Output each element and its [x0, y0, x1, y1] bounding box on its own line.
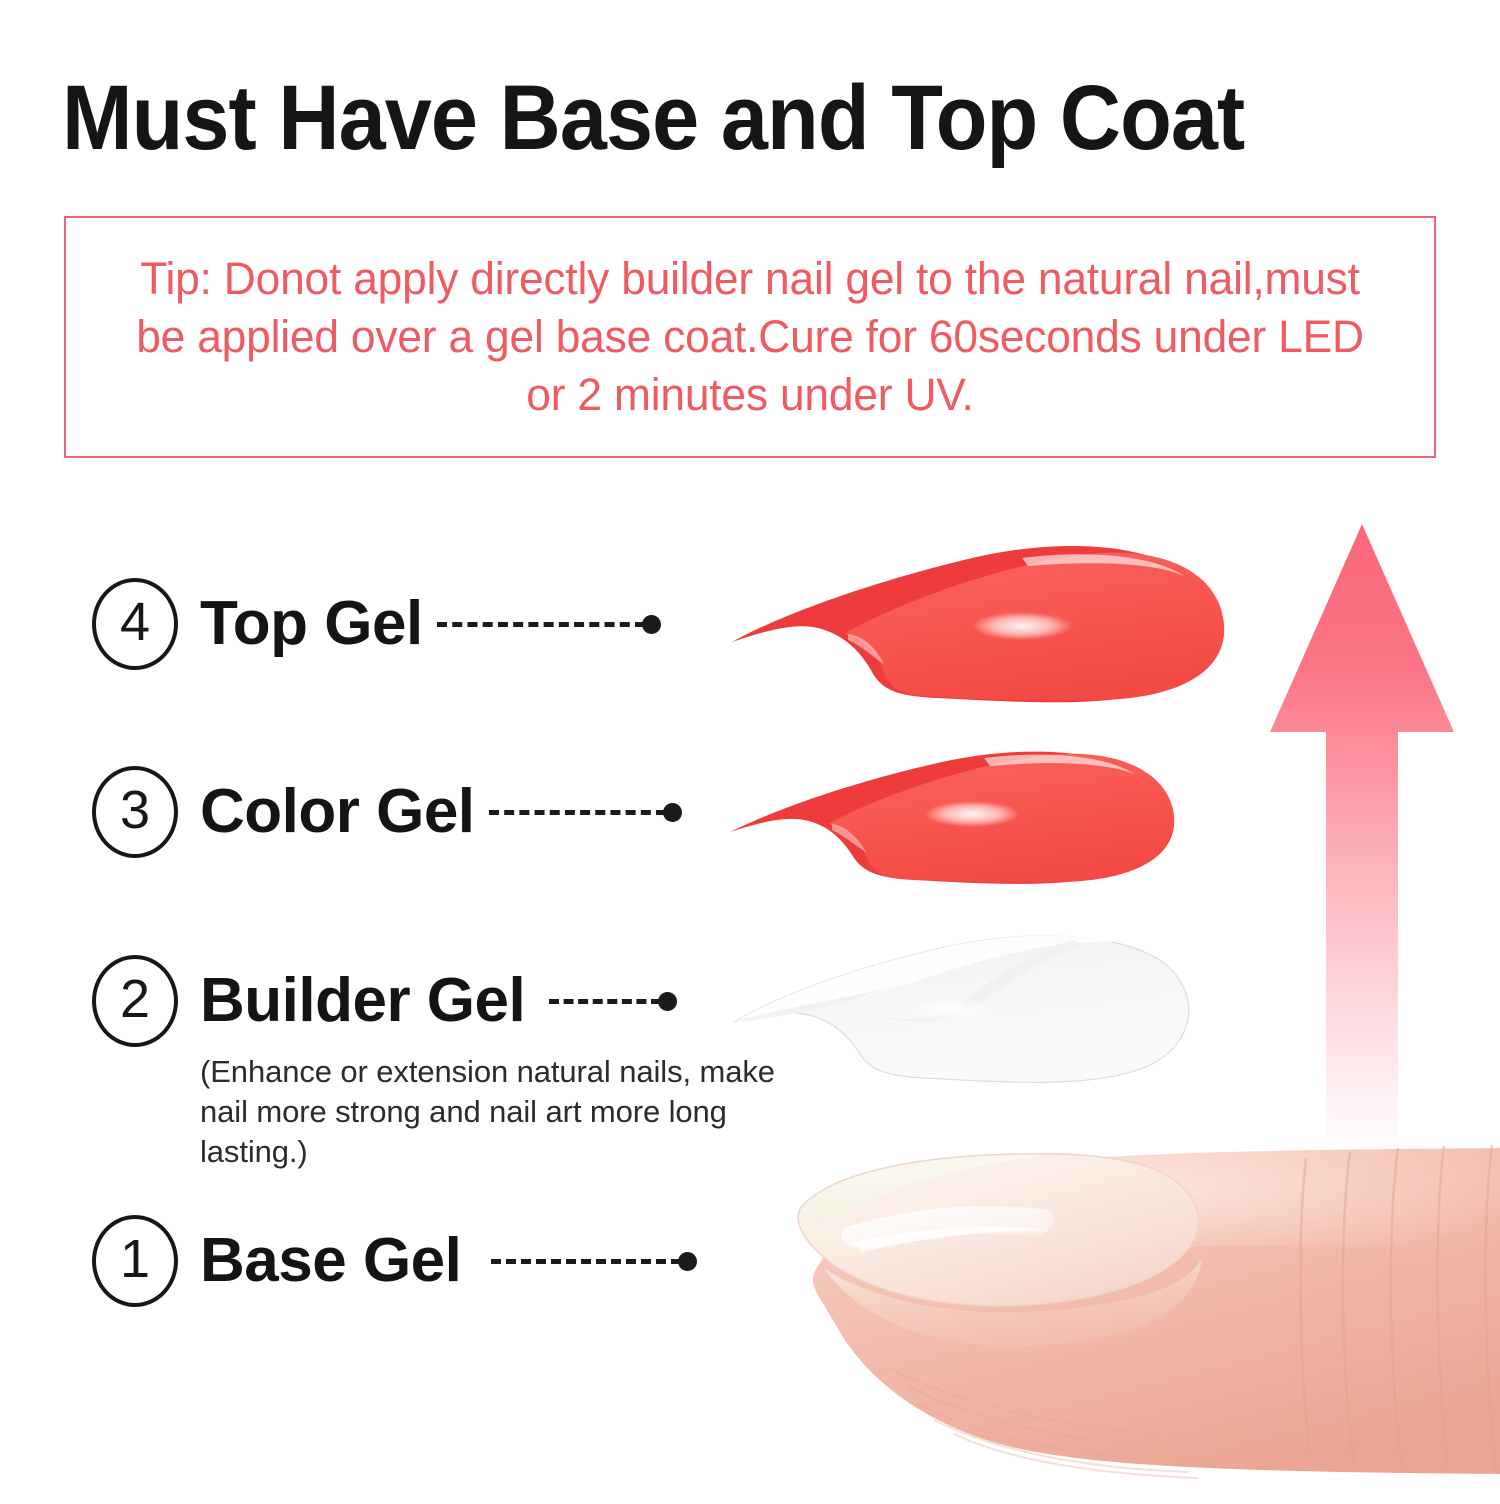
leader-dot-icon: [642, 615, 661, 634]
gel-highlight: [904, 998, 1000, 1022]
leader-line-base-gel: [491, 1251, 697, 1271]
leader-line-color-gel: [489, 802, 682, 822]
step-item-builder-gel: 2 Builder Gel: [92, 955, 677, 1047]
leader-dash: [437, 622, 645, 627]
top-gel-swatch-icon: [722, 522, 1242, 732]
step-number-badge-2: 2: [92, 955, 178, 1047]
leader-dot-icon: [658, 992, 677, 1011]
arrow-shape: [1270, 524, 1454, 1152]
step-number-badge-4: 4: [92, 578, 178, 670]
leader-dot-icon: [678, 1252, 697, 1271]
steps-list: 4 Top Gel 3 Color Gel 2 Builder Gel: [0, 0, 760, 1500]
builder-gel-note: (Enhance or extension natural nails, mak…: [200, 1052, 780, 1172]
step-number-badge-1: 1: [92, 1215, 178, 1307]
step-label-base-gel: Base Gel: [200, 1230, 461, 1292]
leader-dash: [549, 999, 661, 1004]
leader-dash: [491, 1259, 681, 1264]
gel-highlight: [924, 801, 1020, 827]
fingertip-illustration: [758, 1118, 1500, 1504]
step-item-base-gel: 1 Base Gel: [92, 1215, 697, 1307]
step-label-builder-gel: Builder Gel: [200, 970, 525, 1032]
step-label-top-gel: Top Gel: [200, 593, 423, 655]
step-label-color-gel: Color Gel: [200, 781, 475, 843]
leader-dot-icon: [663, 803, 682, 822]
builder-gel-swatch-icon: [712, 922, 1268, 1094]
leader-dash: [489, 810, 666, 815]
step-number-badge-3: 3: [92, 766, 178, 858]
leader-line-top-gel: [437, 614, 661, 634]
step-item-color-gel: 3 Color Gel: [92, 766, 682, 858]
leader-line-builder-gel: [549, 991, 677, 1011]
color-gel-swatch-icon: [722, 732, 1222, 904]
gel-highlight: [972, 612, 1072, 640]
step-item-top-gel: 4 Top Gel: [92, 578, 661, 670]
diagram-canvas: Must Have Base and Top Coat Tip: Donot a…: [0, 0, 1500, 1500]
arrow-up-icon: [1268, 518, 1456, 1158]
